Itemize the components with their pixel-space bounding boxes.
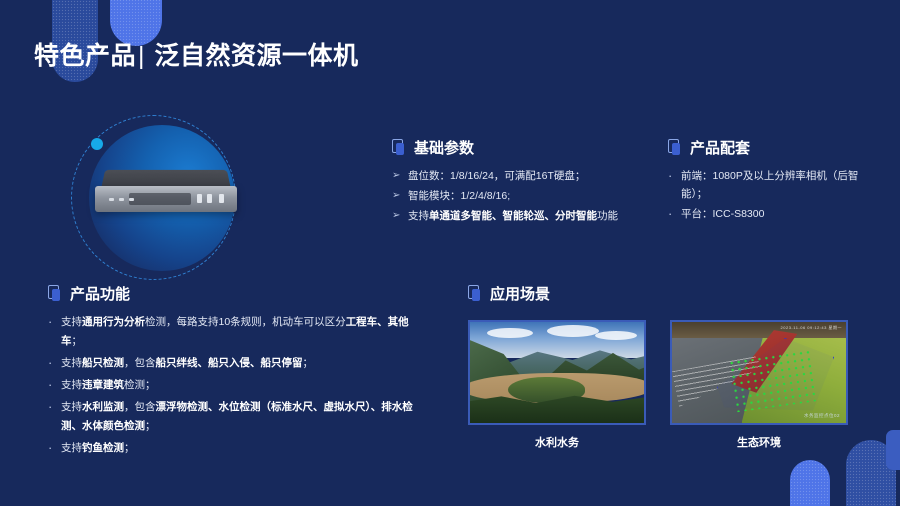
- scenario-caption: 水利水务: [468, 434, 646, 450]
- list-item-text: 支持: [61, 316, 82, 328]
- page-title-sub: 泛自然资源一体机: [154, 42, 358, 70]
- list-item: ·前端：1080P及以上分辨率相机（后智能）；: [668, 167, 883, 203]
- list-item-text: 检测；: [124, 379, 156, 391]
- bullet-marker: ·: [48, 313, 52, 331]
- scenario-item-water[interactable]: 水利水务: [468, 320, 646, 450]
- list-item: ·平台：ICC-S8300: [668, 205, 883, 223]
- list-item-emphasis: 通用行为分析: [82, 316, 145, 328]
- scenario-caption: 生态环境: [670, 434, 848, 450]
- list-item-emphasis: 违章建筑: [82, 379, 124, 391]
- list-item-emphasis: 船只检测: [82, 357, 124, 369]
- list-item-text: 智能模块：1/2/4/8/16;: [408, 190, 510, 202]
- list-item-text: ，包含: [124, 401, 156, 413]
- list-item: ➢智能模块：1/2/4/8/16;: [392, 187, 642, 205]
- bullet-marker: ·: [668, 167, 672, 185]
- section-product-kit: 产品配套 ·前端：1080P及以上分辨率相机（后智能）；·平台：ICC-S830…: [668, 136, 883, 225]
- bullet-marker: ·: [48, 398, 52, 416]
- decoration-right-strip: [886, 430, 900, 470]
- list-item-text: ；: [303, 357, 314, 369]
- section-title: 应用场景: [490, 283, 550, 304]
- list-item: ·支持船只检测，包含船只绊线、船只入侵、船只停留；: [48, 354, 413, 373]
- bullet-marker: ➢: [392, 187, 400, 205]
- list-item-emphasis: 单通道多智能、智能轮巡、分时智能: [429, 210, 597, 222]
- list-item-text: 支持: [61, 401, 82, 413]
- list-item: ·支持通用行为分析检测，每路支持10条规则，机动车可以区分工程车、其他车；: [48, 313, 413, 351]
- device-led-1: [109, 198, 114, 201]
- product-kit-list: ·前端：1080P及以上分辨率相机（后智能）；·平台：ICC-S8300: [668, 167, 883, 223]
- list-item-text: ；: [145, 420, 156, 432]
- device-front-panel: [95, 186, 237, 212]
- title-bar: 特色产品| 泛自然资源一体机: [0, 34, 900, 80]
- section-application-scenarios: 应用场景 水利水务: [468, 282, 858, 313]
- list-item: ➢支持单通道多智能、智能轮巡、分时智能功能: [392, 207, 642, 225]
- product-visual: [63, 112, 275, 287]
- list-item: ·支持水利监测，包含漂浮物检测、水位检测（标准水尺、虚拟水尺）、排水检测、水体颜…: [48, 398, 413, 436]
- section-header: 产品功能: [48, 282, 413, 304]
- list-item: ➢盘位数：1/8/16/24，可满配16T硬盘；: [392, 167, 642, 185]
- bullet-marker: ·: [48, 354, 52, 372]
- list-item-text: 支持: [61, 357, 82, 369]
- device-led-3: [129, 198, 134, 201]
- page-title-separator: |: [136, 42, 147, 70]
- device-port-2: [207, 194, 212, 203]
- list-item-emphasis: 水利监测: [82, 401, 124, 413]
- product-function-list: ·支持通用行为分析检测，每路支持10条规则，机动车可以区分工程车、其他车；·支持…: [48, 313, 413, 458]
- accent-dot-decoration: [91, 138, 103, 150]
- section-product-functions: 产品功能 ·支持通用行为分析检测，每路支持10条规则，机动车可以区分工程车、其他…: [48, 282, 413, 461]
- section-basic-parameters: 基础参数 ➢盘位数：1/8/16/24，可满配16T硬盘；➢智能模块：1/2/4…: [392, 136, 642, 227]
- page-title-main: 特色产品: [34, 42, 136, 70]
- double-square-icon: [468, 285, 481, 302]
- bullet-marker: ·: [668, 205, 672, 223]
- list-item-text: ；: [72, 335, 83, 347]
- bullet-marker: ·: [48, 439, 52, 457]
- bullet-marker: ·: [48, 376, 52, 394]
- bullet-marker: ➢: [392, 167, 400, 185]
- basic-parameter-list: ➢盘位数：1/8/16/24，可满配16T硬盘；➢智能模块：1/2/4/8/16…: [392, 167, 642, 225]
- scenario-item-eco[interactable]: 2023-11-06 09:12:43 星期一 水务监控点位02 生态环境: [670, 320, 848, 450]
- double-square-icon: [392, 139, 405, 156]
- list-item-text: 支持: [61, 379, 82, 391]
- device-port-1: [197, 194, 202, 203]
- decoration-bottom-right-bright: [790, 460, 830, 506]
- section-header: 应用场景: [468, 282, 858, 304]
- section-header: 产品配套: [668, 136, 883, 158]
- list-item-text: 支持: [61, 442, 82, 454]
- osd-timestamp: 2023-11-06 09:12:43 星期一: [781, 325, 842, 331]
- section-header: 基础参数: [392, 136, 642, 158]
- list-item: ·支持钓鱼检测；: [48, 439, 413, 458]
- scenario-thumbnail-row: 水利水务 2023-11-06 09:12:43 星期一 水务监控点位02 生态…: [468, 320, 848, 450]
- list-item-text: 盘位数：1/8/16/24，可满配16T硬盘；: [408, 170, 585, 182]
- list-item-text: 平台：ICC-S8300: [681, 208, 764, 220]
- double-square-icon: [668, 139, 681, 156]
- list-item-text: 功能: [597, 210, 618, 222]
- decoration-bottom-right-dark: [846, 440, 896, 506]
- device-led-2: [119, 198, 124, 201]
- list-item-text: ，包含: [124, 357, 156, 369]
- list-item-text: 前端：1080P及以上分辨率相机（后智能）；: [681, 170, 858, 200]
- bullet-marker: ➢: [392, 207, 400, 225]
- slide-canvas: 特色产品| 泛自然资源一体机 基础参数 ➢盘位: [0, 0, 900, 506]
- list-item-text: ；: [124, 442, 135, 454]
- list-item: ·支持违章建筑检测；: [48, 376, 413, 395]
- double-square-icon: [48, 285, 61, 302]
- scenario-image-ecological-environment[interactable]: 2023-11-06 09:12:43 星期一 水务监控点位02: [670, 320, 848, 425]
- device-port-3: [219, 194, 224, 203]
- osd-channel-name: 水务监控点位02: [804, 413, 840, 419]
- page-title: 特色产品| 泛自然资源一体机: [34, 34, 358, 78]
- list-item-text: 检测，每路支持10条规则，机动车可以区分: [145, 316, 346, 328]
- list-item-text: 支持: [408, 210, 429, 222]
- list-item-emphasis: 船只绊线、船只入侵、船只停留: [156, 357, 303, 369]
- section-title: 基础参数: [414, 137, 474, 158]
- list-item-emphasis: 钓鱼检测: [82, 442, 124, 454]
- scenario-image-water-conservancy[interactable]: [468, 320, 646, 425]
- section-title: 产品功能: [70, 283, 130, 304]
- product-device-image: [95, 167, 237, 217]
- section-title: 产品配套: [690, 137, 750, 158]
- device-display-window: [129, 193, 191, 205]
